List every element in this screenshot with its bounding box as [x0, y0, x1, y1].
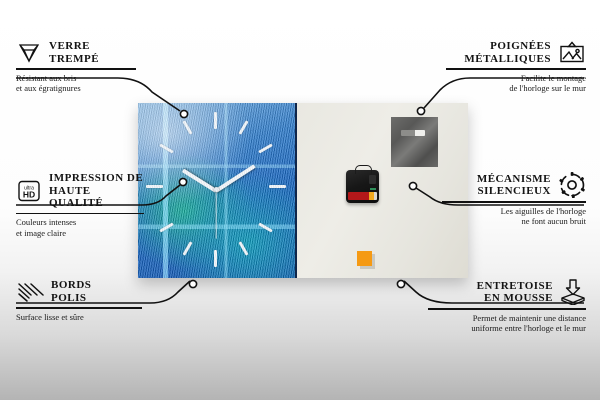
picture-hanger-icon — [558, 41, 586, 65]
callout-desc-line1: Les aiguilles de l'horloge — [442, 206, 586, 217]
clock-mechanism — [346, 170, 379, 203]
clock-tick — [258, 143, 272, 153]
callout-rule — [428, 308, 586, 310]
callout-rule — [16, 213, 144, 215]
callout-desc-line2: uniforme entre l'horloge et le mur — [428, 323, 586, 334]
mechanism-chip — [369, 175, 376, 184]
clock-tick — [182, 120, 192, 134]
callout-desc-line2: et image claire — [16, 228, 144, 239]
callout-title-line1: BORDS — [51, 279, 91, 292]
clock-second-hand — [215, 191, 216, 239]
callout-desc-line1: Permet de maintenir une distance — [428, 313, 586, 324]
clock-hour-hand — [182, 169, 217, 193]
callout-desc-line2: ne font aucun bruit — [442, 216, 586, 227]
battery — [348, 192, 377, 200]
diamond-icon — [16, 42, 42, 64]
callout-title-line1: POIGNÉES — [464, 40, 551, 53]
clock-tick — [258, 222, 272, 232]
clock-tick — [182, 241, 192, 255]
callout-mecanisme-silencieux: MÉCANISME SILENCIEUX — [442, 172, 586, 227]
callout-rule — [16, 68, 136, 70]
callout-desc-line1: Surface lisse et sûre — [16, 312, 142, 323]
callout-title-line2: MÉTALLIQUES — [464, 53, 551, 66]
callout-verre-trempe: VERRE TREMPÉ Résistant aux bris et aux é… — [16, 40, 136, 94]
callout-impression-haute-qualite: ultra HD IMPRESSION DE HAUTE QUALITÉ Cou… — [16, 172, 144, 238]
callout-rule — [446, 68, 586, 70]
callout-desc-line2: et aux égratignures — [16, 83, 136, 94]
product-image — [138, 103, 468, 278]
callout-title-line1: ENTRETOISE — [477, 280, 553, 293]
callout-bords-polis: BORDS POLIS Surface lisse et sûre — [16, 279, 142, 322]
clock-tick — [146, 185, 163, 188]
mechanism-led — [370, 188, 376, 190]
clock-center-hub — [214, 187, 219, 192]
foam-spacer-icon — [560, 279, 586, 305]
callout-desc-line1: Facilite le montage — [446, 73, 586, 84]
hanger-loop — [355, 165, 372, 174]
callout-title-line2: SILENCIEUX — [477, 185, 551, 198]
ultra-hd-icon: ultra HD — [16, 179, 42, 203]
callout-title-line1: IMPRESSION DE — [49, 172, 144, 185]
clock-tick — [159, 222, 173, 232]
callout-title-line2: TREMPÉ — [49, 53, 99, 66]
clock-tick — [214, 250, 217, 267]
battery-plus-terminal — [369, 192, 374, 200]
callout-rule — [442, 201, 586, 203]
callout-desc-line2: de l'horloge sur le mur — [446, 83, 586, 94]
callout-poignees-metalliques: POIGNÉES MÉTALLIQUES Facilite le montage… — [446, 40, 586, 94]
metal-hanger-plate — [391, 117, 438, 167]
clock-tick — [214, 112, 217, 129]
callout-title-line1: MÉCANISME — [477, 173, 551, 186]
callout-entretoise-en-mousse: ENTRETOISE EN MOUSSE Permet de maintenir… — [428, 279, 586, 334]
callout-title-line2: HAUTE QUALITÉ — [49, 185, 144, 210]
foam-spacer — [357, 251, 372, 266]
clock-minute-hand — [215, 164, 256, 192]
infographic-stage: VERRE TREMPÉ Résistant aux bris et aux é… — [0, 0, 600, 400]
clock-tick — [238, 241, 248, 255]
clock-tick — [269, 185, 286, 188]
connector-dot-bords — [189, 280, 196, 287]
clock-tick — [159, 143, 173, 153]
gear-icon — [558, 172, 586, 198]
connector-dot-entretoise — [397, 280, 404, 287]
clock-face — [138, 103, 297, 278]
polished-edges-icon — [16, 281, 44, 303]
svg-text:HD: HD — [23, 189, 35, 199]
callout-desc-line1: Couleurs intenses — [16, 217, 144, 228]
callout-title-line1: VERRE — [49, 40, 99, 53]
callout-title-line2: EN MOUSSE — [477, 292, 553, 305]
callout-desc-line1: Résistant aux bris — [16, 73, 136, 84]
callout-title-line2: POLIS — [51, 292, 91, 305]
callout-rule — [16, 307, 142, 309]
clock-tick — [238, 120, 248, 134]
hanger-slot — [401, 130, 425, 136]
